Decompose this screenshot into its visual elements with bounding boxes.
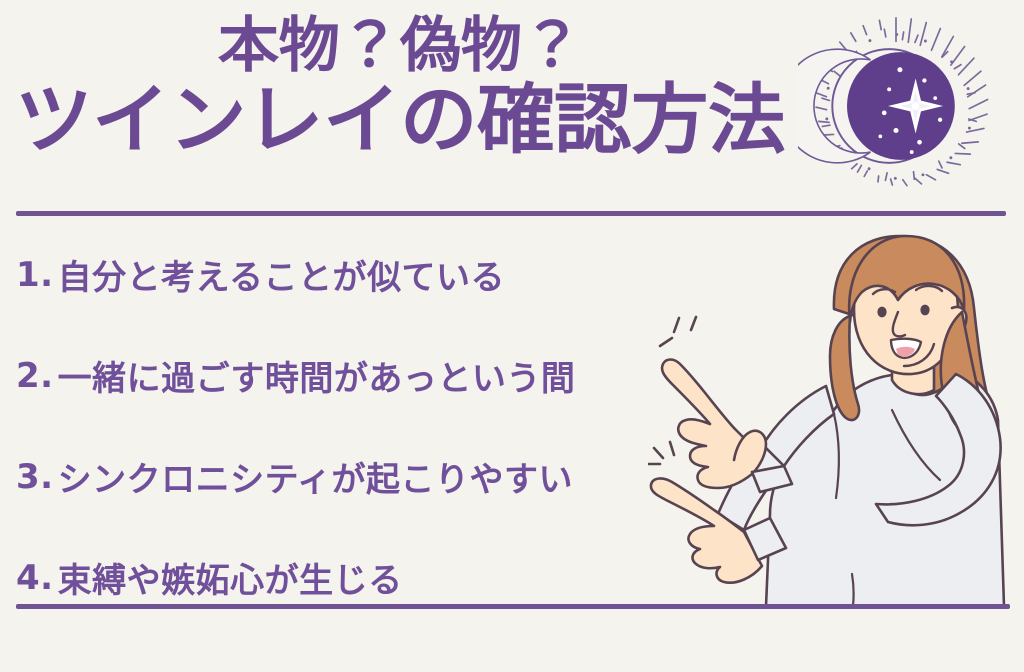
page-title: 本物？偽物？ ツインレイの確認方法: [0, 16, 800, 158]
list-item: 4. 束縛や嫉妬心が生じる: [16, 527, 696, 628]
title-line-2: ツインレイの確認方法: [0, 82, 808, 158]
woman-pointing-illustration: [648, 214, 1024, 606]
list-item-number: 4.: [16, 558, 54, 598]
divider-top: [16, 211, 1006, 216]
infographic-canvas: 本物？偽物？ ツインレイの確認方法: [0, 0, 1024, 672]
checklist: 1. 自分と考えることが似ている 2. 一緒に過ごす時間があっという間 3. シ…: [16, 224, 696, 628]
list-item: 2. 一緒に過ごす時間があっという間: [16, 325, 696, 426]
list-item-label: 一緒に過ごす時間があっという間: [58, 351, 576, 400]
list-item-label: 束縛や嫉妬心が生じる: [58, 553, 403, 602]
list-item: 3. シンクロニシティが起こりやすい: [16, 426, 696, 527]
list-item-number: 2.: [16, 356, 54, 396]
list-item-number: 3.: [16, 457, 54, 497]
title-line-1: 本物？偽物？: [0, 16, 808, 82]
list-item-label: シンクロニシティが起こりやすい: [58, 452, 573, 501]
moon-star-emblem-icon: [798, 8, 994, 204]
list-item: 1. 自分と考えることが似ている: [16, 224, 696, 325]
list-item-label: 自分と考えることが似ている: [58, 250, 505, 299]
list-item-number: 1.: [16, 255, 54, 295]
